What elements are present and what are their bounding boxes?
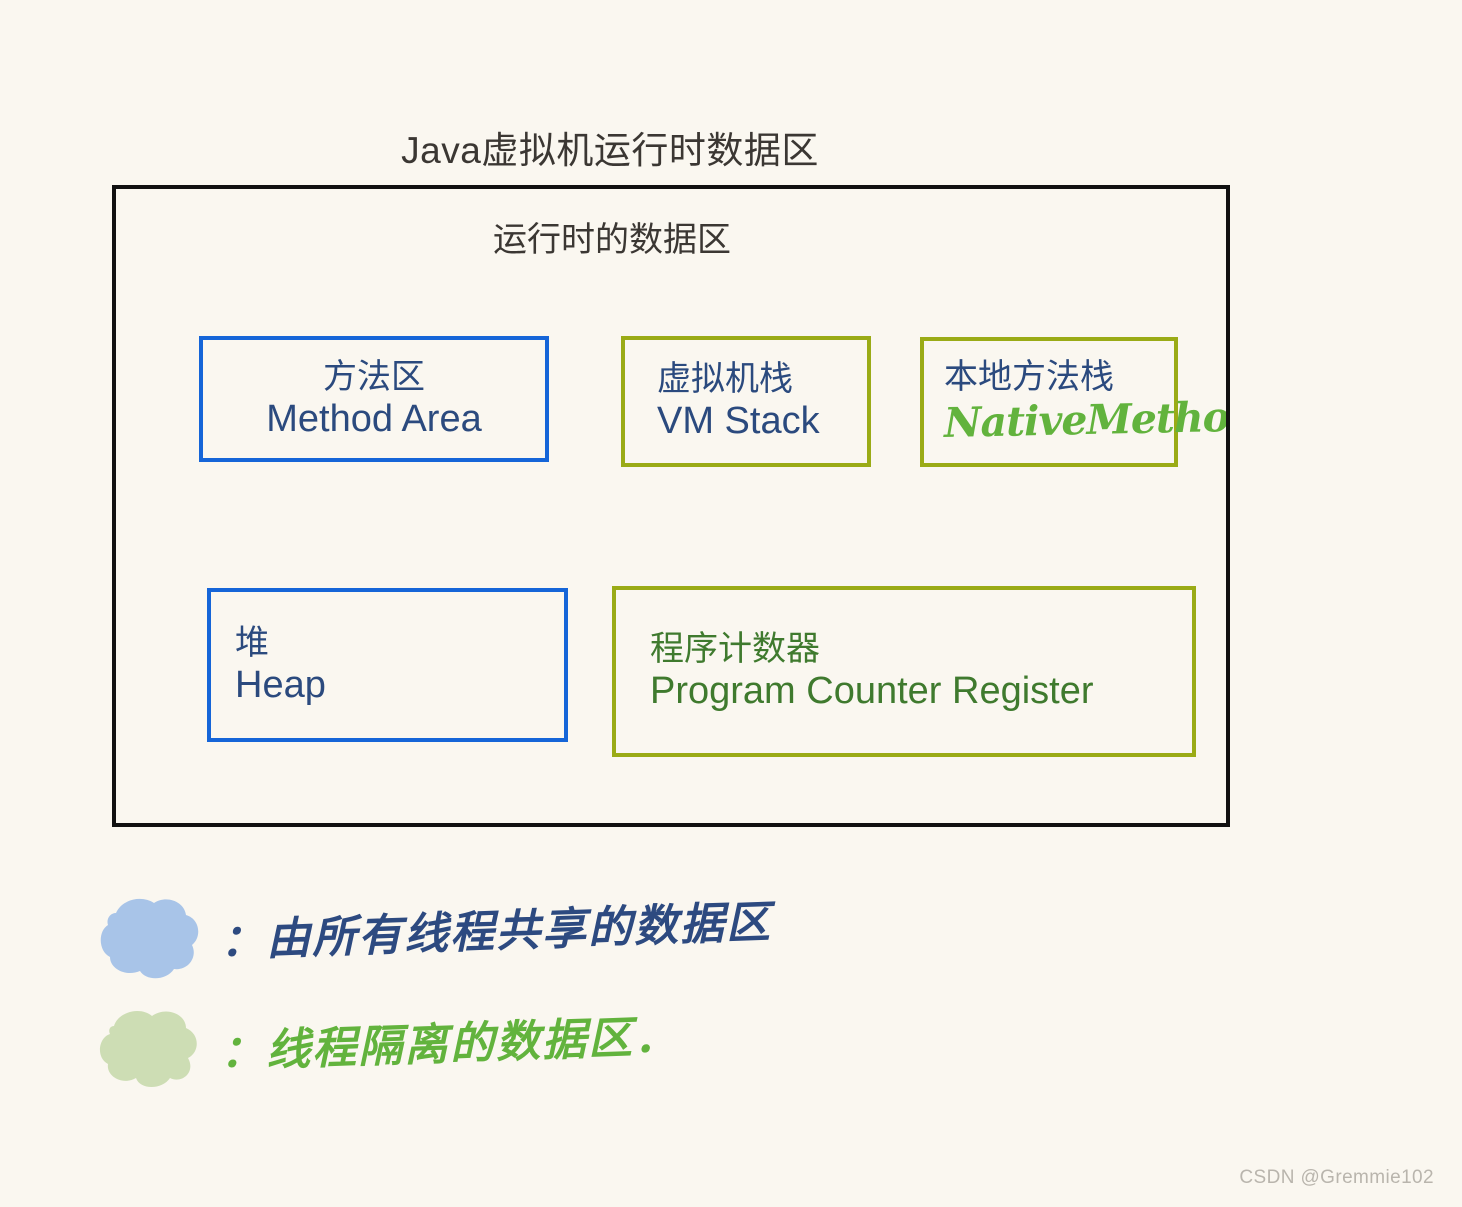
legend-item-shared: ：由所有线程共享的数据区 <box>96 893 772 981</box>
region-pc-register-en: Program Counter Register <box>650 669 1192 714</box>
region-method-area-en: Method Area <box>266 397 481 442</box>
region-heap[interactable]: 堆 Heap <box>207 588 568 742</box>
region-pc-register[interactable]: 程序计数器 Program Counter Register <box>612 586 1196 757</box>
legend-isolated-text: ：线程隔离的数据区． <box>219 1000 681 1080</box>
region-method-area-zh: 方法区 <box>323 357 425 397</box>
diagram-canvas: Java虚拟机运行时数据区 运行时的数据区 方法区 Method Area 虚拟… <box>0 0 1462 1207</box>
region-heap-en: Heap <box>235 663 564 708</box>
watermark: CSDN @Gremmie102 <box>1239 1167 1434 1189</box>
region-method-area[interactable]: 方法区 Method Area <box>199 336 549 462</box>
green-blob-swatch-icon <box>96 1004 206 1092</box>
page-title: Java虚拟机运行时数据区 <box>0 120 1220 174</box>
region-pc-register-zh: 程序计数器 <box>650 629 1192 669</box>
legend-shared-text: ：由所有线程共享的数据区 <box>219 886 773 969</box>
legend-item-isolated: ：线程隔离的数据区． <box>96 1004 680 1092</box>
region-vm-stack-zh: 虚拟机栈 <box>657 359 867 399</box>
region-heap-zh: 堆 <box>235 623 564 663</box>
region-vm-stack-en: VM Stack <box>657 399 867 444</box>
blue-blob-swatch-icon <box>96 893 206 981</box>
region-vm-stack[interactable]: 虚拟机栈 VM Stack <box>621 336 871 467</box>
inner-title: 运行时的数据区 <box>112 212 1112 261</box>
